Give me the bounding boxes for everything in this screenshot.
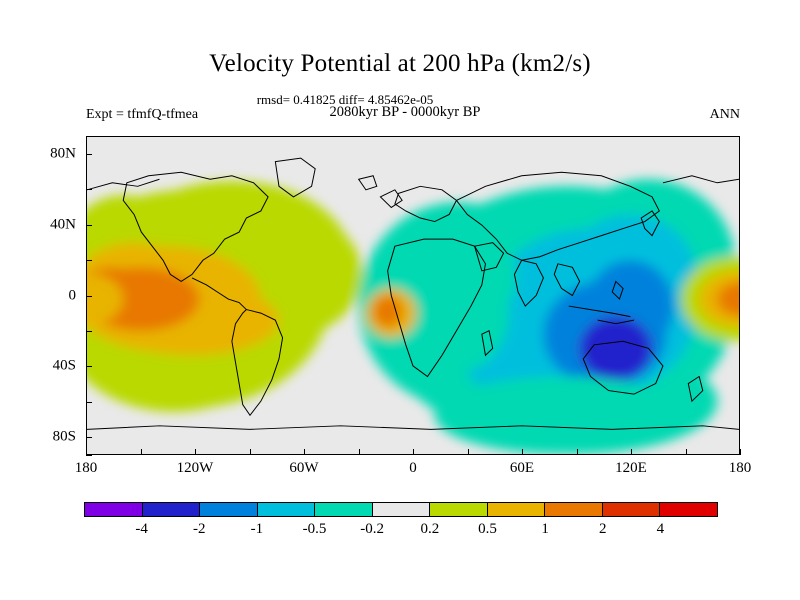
colorbar-tick-label: -0.5 (303, 521, 327, 538)
colorbar-band (660, 503, 717, 516)
y-tick (86, 189, 92, 190)
colorbar-tick-label: -0.2 (360, 521, 384, 538)
x-tick (577, 449, 578, 455)
x-axis-label: 0 (409, 460, 417, 477)
colorbar-tick-label: -1 (251, 521, 264, 538)
y-tick (86, 455, 92, 456)
figure-canvas: Velocity Potential at 200 hPa (km2/s) rm… (0, 0, 800, 600)
x-tick (468, 449, 469, 455)
season-label: ANN (0, 107, 740, 123)
colorbar-band (603, 503, 661, 516)
x-axis-label: 180 (75, 460, 98, 477)
y-tick (86, 154, 92, 155)
x-axis-label: 120E (615, 460, 647, 477)
x-tick (686, 449, 687, 455)
colorbar-tick-label: 0.5 (478, 521, 497, 538)
y-tick (86, 296, 92, 297)
x-axis-label: 180 (729, 460, 752, 477)
y-axis-label: 0 (34, 287, 76, 304)
colorbar-band (373, 503, 431, 516)
x-tick (250, 449, 251, 455)
colorbar-band (430, 503, 488, 516)
colorbar-tick-label: 0.2 (420, 521, 439, 538)
y-tick (86, 225, 92, 226)
x-axis-label: 60W (289, 460, 318, 477)
y-tick (86, 366, 92, 367)
colorbar-band (488, 503, 546, 516)
colorbar-tick-label: 2 (599, 521, 607, 538)
x-tick (304, 449, 305, 455)
colorbar-band (85, 503, 143, 516)
colorbar-band (315, 503, 373, 516)
colorbar-tick-label: -2 (193, 521, 206, 538)
x-tick (740, 449, 741, 455)
colorbar-band (258, 503, 316, 516)
coastline-overlay (87, 137, 739, 454)
colorbar-band (200, 503, 258, 516)
x-axis-label: 60E (510, 460, 534, 477)
x-tick (522, 449, 523, 455)
colorbar-tick-label: -4 (135, 521, 148, 538)
x-tick (359, 449, 360, 455)
colorbar (84, 502, 718, 517)
map-plot-area (86, 136, 740, 455)
y-axis-label: 40N (34, 216, 76, 233)
x-tick (631, 449, 632, 455)
y-tick (86, 437, 92, 438)
y-tick (86, 331, 92, 332)
colorbar-tick-label: 4 (657, 521, 665, 538)
page-title: Velocity Potential at 200 hPa (km2/s) (0, 50, 800, 78)
y-axis-label: 40S (34, 358, 76, 375)
y-tick (86, 402, 92, 403)
colorbar-tick-label: 1 (541, 521, 549, 538)
y-tick (86, 260, 92, 261)
y-tick (86, 136, 92, 137)
colorbar-band (143, 503, 201, 516)
x-tick (413, 449, 414, 455)
colorbar-band (545, 503, 603, 516)
y-axis-label: 80S (34, 429, 76, 446)
x-axis-label: 120W (177, 460, 214, 477)
y-axis-label: 80N (34, 145, 76, 162)
x-tick (141, 449, 142, 455)
x-tick (195, 449, 196, 455)
